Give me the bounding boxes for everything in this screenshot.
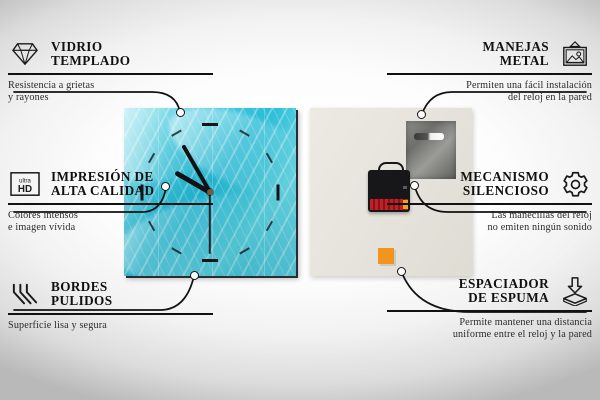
diamond-icon (8, 38, 42, 70)
picture-frame-icon (558, 38, 592, 70)
feature-glass: VIDRIO TEMPLADO Resistencia a grietas y … (8, 38, 213, 104)
feature-edges-subtitle: Superficie lisa y segura (8, 320, 213, 332)
feature-mechanism: MECANISMO SILENCIOSO Las manecillas del … (387, 168, 592, 234)
gear-icon (558, 168, 592, 200)
feature-edges-header: BORDES PULIDOS (8, 278, 213, 310)
feature-hands-subtitle: Permiten una fácil instalación del reloj… (387, 80, 592, 105)
feature-hands-header: MANEJAS METAL (387, 38, 592, 70)
feature-print-rule (8, 203, 213, 205)
feature-glass-rule (8, 73, 213, 75)
feature-hands: MANEJAS METAL Permiten una fácil instala… (387, 38, 592, 104)
feature-hands-title: MANEJAS METAL (387, 40, 549, 69)
infographic-canvas: VIDRIO TEMPLADO Resistencia a grietas y … (0, 0, 600, 400)
connector-dot-hands (417, 110, 426, 119)
hanger-slot (414, 133, 444, 140)
glass-band (264, 108, 265, 276)
foam-spacer-icon (558, 275, 592, 307)
feature-print: ultra HD IMPRESIÓN DE ALTA CALIDAD Color… (8, 168, 213, 234)
feature-foam-rule (387, 310, 592, 312)
ultra-hd-icon: ultra HD (8, 168, 42, 200)
feature-glass-header: VIDRIO TEMPLADO (8, 38, 213, 70)
polished-edges-icon (8, 278, 42, 310)
feature-edges-rule (8, 313, 213, 315)
feature-mechanism-subtitle: Las manecillas del reloj no emiten ningú… (387, 210, 592, 235)
feature-mechanism-rule (387, 203, 592, 205)
feature-edges-title: BORDES PULIDOS (51, 280, 213, 309)
feature-foam-header: ESPACIADOR DE ESPUMA (387, 275, 592, 307)
foam-spacer (378, 248, 394, 264)
feature-print-subtitle: Colores intensos e imagen vívida (8, 210, 213, 235)
feature-hands-rule (387, 73, 592, 75)
feature-mechanism-title: MECANISMO SILENCIOSO (387, 170, 549, 199)
feature-glass-title: VIDRIO TEMPLADO (51, 40, 213, 69)
connector-dot-glass (176, 108, 185, 117)
feature-edges: BORDES PULIDOS Superficie lisa y segura (8, 278, 213, 332)
feature-print-title: IMPRESIÓN DE ALTA CALIDAD (51, 170, 213, 199)
feature-glass-subtitle: Resistencia a grietas y rayones (8, 80, 213, 105)
feature-foam-subtitle: Permite mantener una distancia uniforme … (387, 317, 592, 342)
feature-mechanism-header: MECANISMO SILENCIOSO (387, 168, 592, 200)
feature-foam: ESPACIADOR DE ESPUMA Permite mantener un… (387, 275, 592, 341)
svg-text:HD: HD (18, 184, 32, 195)
feature-print-header: ultra HD IMPRESIÓN DE ALTA CALIDAD (8, 168, 213, 200)
feature-foam-title: ESPACIADOR DE ESPUMA (387, 277, 549, 306)
